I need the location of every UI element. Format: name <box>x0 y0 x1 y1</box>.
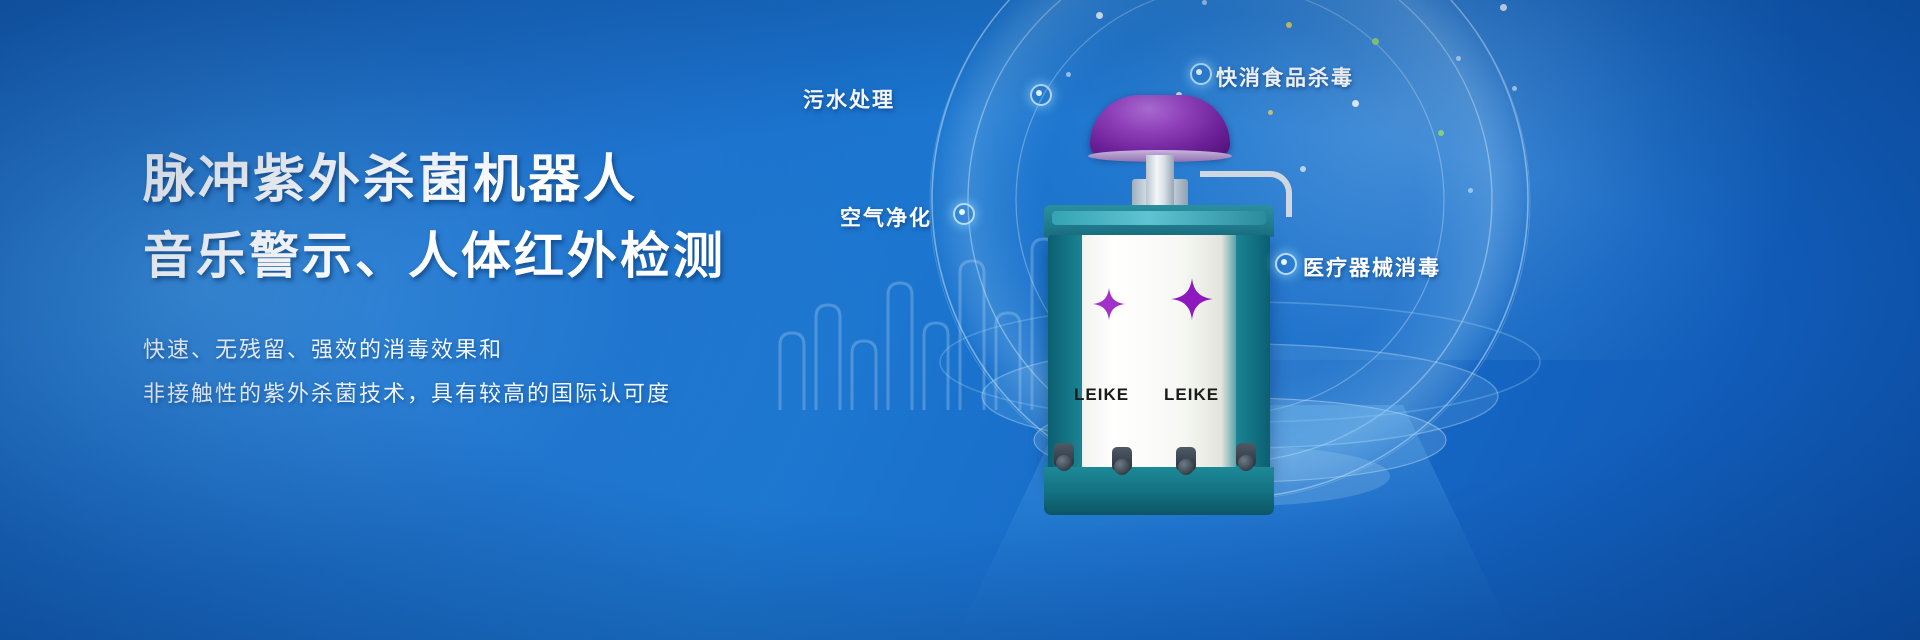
feature-marker-dot-food <box>1190 63 1212 85</box>
uv-disinfection-robot: LEIKE LEIKE <box>1030 95 1290 490</box>
robot-cabinet-right-edge <box>1236 235 1270 475</box>
robot-caster <box>1176 447 1196 471</box>
robot-cabinet-left-edge <box>1048 235 1082 475</box>
banner-subtext-line-2: 非接触性的紫外杀菌技术，具有较高的国际认可度 <box>143 372 903 416</box>
banner-subtext-line-1: 快速、无残留、强效的消毒效果和 <box>143 328 903 372</box>
feature-label-medical: 医疗器械消毒 <box>1303 252 1441 282</box>
robot-caster <box>1054 443 1074 467</box>
banner-copy: 脉冲紫外杀菌机器人 音乐警示、人体红外检测 快速、无残留、强效的消毒效果和 非接… <box>143 150 903 416</box>
feature-marker-dot-medical <box>1275 253 1297 275</box>
sparkle-star-icon-left <box>1092 287 1126 321</box>
robot-caster <box>1112 447 1132 471</box>
banner-headline-primary: 脉冲紫外杀菌机器人 <box>143 150 903 212</box>
brand-label-left: LEIKE <box>1074 385 1129 405</box>
feature-label-food: 快消食品杀毒 <box>1216 62 1354 92</box>
robot-cabinet-top-face <box>1052 211 1266 225</box>
robot-caster <box>1236 443 1256 467</box>
promo-banner: 脉冲紫外杀菌机器人 音乐警示、人体红外检测 快速、无残留、强效的消毒效果和 非接… <box>0 0 1920 640</box>
banner-headline-secondary: 音乐警示、人体红外检测 <box>143 226 903 286</box>
uv-lamp-dome <box>1090 95 1230 157</box>
feature-label-wastewater: 污水处理 <box>803 84 915 114</box>
brand-label-right: LEIKE <box>1164 385 1219 405</box>
robot-cabinet-base <box>1044 467 1274 515</box>
sparkle-star-icon-right <box>1170 277 1214 321</box>
banner-subtext: 快速、无残留、强效的消毒效果和 非接触性的紫外杀菌技术，具有较高的国际认可度 <box>143 328 903 416</box>
feature-marker-dot-air <box>953 203 975 225</box>
feature-marker-dot-wastewater <box>1030 84 1052 106</box>
feature-label-air: 空气净化 <box>840 202 938 232</box>
